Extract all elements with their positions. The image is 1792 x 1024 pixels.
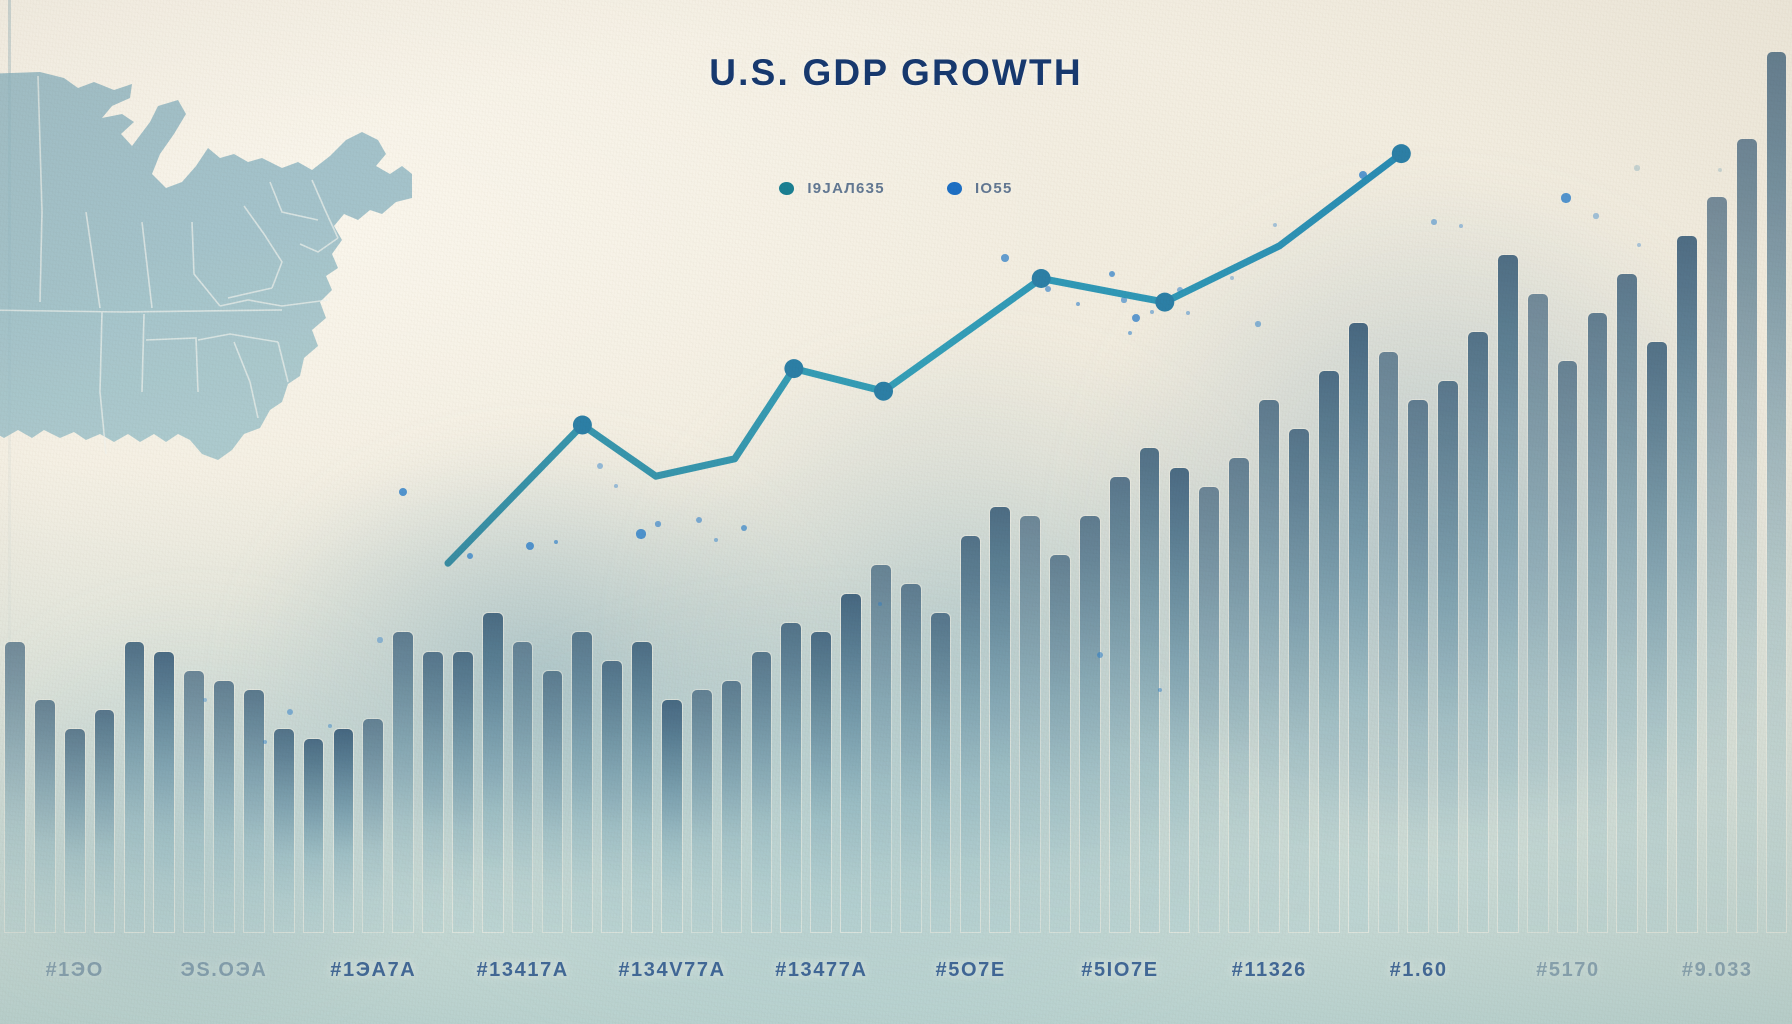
x-axis-tick-label: #13477A — [747, 959, 896, 982]
paint-splatter — [1230, 276, 1234, 280]
bar — [214, 681, 234, 932]
bar — [35, 700, 55, 932]
bar — [692, 690, 712, 932]
bar — [1677, 236, 1697, 932]
legend-item-label: IO55 — [975, 180, 1013, 197]
x-axis-tick-label: ЭЅ.ОЭA — [149, 959, 298, 982]
paint-splatter — [1255, 321, 1260, 326]
bar — [543, 671, 563, 932]
x-axis-tick-label: #13417A — [448, 959, 597, 982]
bar — [1588, 313, 1608, 932]
bar — [1498, 255, 1518, 932]
legend-marker-dot-icon — [947, 182, 962, 195]
paint-splatter — [1718, 168, 1722, 172]
x-axis-tick-label: #11326 — [1195, 959, 1344, 982]
bar — [1737, 139, 1757, 932]
bar — [423, 652, 443, 932]
bar — [1020, 516, 1040, 932]
paint-splatter — [1097, 652, 1103, 658]
paint-splatter — [1177, 287, 1183, 293]
bar — [841, 594, 861, 932]
paint-splatter — [655, 521, 660, 526]
chart-legend: I9JAЛ635IO55 — [0, 180, 1792, 197]
bar — [1707, 197, 1727, 932]
x-axis-tick-label: #9.033 — [1643, 959, 1792, 982]
bar — [1170, 468, 1190, 932]
page-title: U.S. GDP GROWTH — [0, 52, 1792, 94]
x-axis-tick-label: #1ЭA7A — [299, 959, 448, 982]
bar — [184, 671, 204, 932]
bar — [1408, 400, 1428, 932]
bar — [901, 584, 921, 932]
x-axis-tick-label: #5O7E — [896, 959, 1045, 982]
paint-splatter — [1634, 165, 1639, 170]
bar — [334, 729, 354, 932]
x-axis-tick-label: #1ЭО — [0, 959, 149, 982]
bar — [154, 652, 174, 932]
bar — [363, 719, 383, 932]
bar — [990, 507, 1010, 932]
bar — [1080, 516, 1100, 932]
bar — [1349, 323, 1369, 932]
bar — [274, 729, 294, 932]
x-axis-tick-label: #5170 — [1493, 959, 1642, 982]
x-axis-tick-label: #1.60 — [1344, 959, 1493, 982]
paint-splatter — [377, 637, 382, 642]
legend-item-label: I9JAЛ635 — [807, 180, 885, 197]
paint-splatter — [287, 709, 293, 715]
bar — [1259, 400, 1279, 932]
paint-splatter — [1359, 171, 1367, 179]
bar — [65, 729, 85, 932]
bar — [722, 681, 742, 932]
bar — [602, 661, 622, 932]
paint-splatter — [1150, 310, 1154, 314]
bar — [393, 632, 413, 932]
bar — [662, 700, 682, 932]
bar — [1110, 477, 1130, 932]
paint-splatter — [526, 542, 534, 550]
bar — [244, 690, 264, 932]
paint-splatter — [1121, 297, 1126, 302]
bar — [1617, 274, 1637, 932]
bar — [1140, 448, 1160, 932]
bar — [961, 536, 981, 932]
paint-splatter — [328, 724, 332, 728]
bar — [781, 623, 801, 932]
bar — [871, 565, 891, 932]
bar — [95, 710, 115, 932]
x-axis-tick-label: #5IO7E — [1045, 959, 1194, 982]
bar — [513, 642, 533, 932]
bar — [931, 613, 951, 932]
bar — [483, 613, 503, 932]
bar — [811, 632, 831, 932]
bar — [1438, 381, 1458, 932]
paint-splatter — [696, 517, 702, 523]
paint-splatter — [597, 463, 603, 469]
bar — [304, 739, 324, 932]
x-axis-tick-labels: #1ЭОЭЅ.ОЭA#1ЭA7A#13417A#134V77A#13477A#5… — [0, 950, 1792, 990]
bar — [1319, 371, 1339, 932]
bar — [1379, 352, 1399, 932]
bar — [1528, 294, 1548, 932]
paint-splatter — [1132, 314, 1140, 322]
legend-item[interactable]: IO55 — [947, 180, 1013, 197]
paint-splatter — [1459, 224, 1463, 228]
paint-splatter — [1001, 254, 1009, 262]
bar — [5, 642, 25, 932]
paint-splatter — [636, 529, 645, 538]
bar — [453, 652, 473, 932]
bar — [125, 642, 145, 932]
bar — [752, 652, 772, 932]
legend-marker-dot-icon — [779, 182, 794, 195]
paint-splatter — [1431, 219, 1437, 225]
paint-splatter — [1045, 286, 1051, 292]
bar — [632, 642, 652, 932]
bar — [1229, 458, 1249, 932]
bar — [572, 632, 592, 932]
bar — [1199, 487, 1219, 932]
bar — [1558, 361, 1578, 932]
bar — [1647, 342, 1667, 932]
bar — [1468, 332, 1488, 932]
bar — [1050, 555, 1070, 932]
legend-item[interactable]: I9JAЛ635 — [779, 180, 885, 197]
chart-canvas: U.S. GDP GROWTH I9JAЛ635IO55 #1ЭОЭЅ.ОЭA#… — [0, 0, 1792, 1024]
paint-splatter — [1593, 213, 1598, 218]
x-axis-tick-label: #134V77A — [597, 959, 746, 982]
bar — [1289, 429, 1309, 932]
